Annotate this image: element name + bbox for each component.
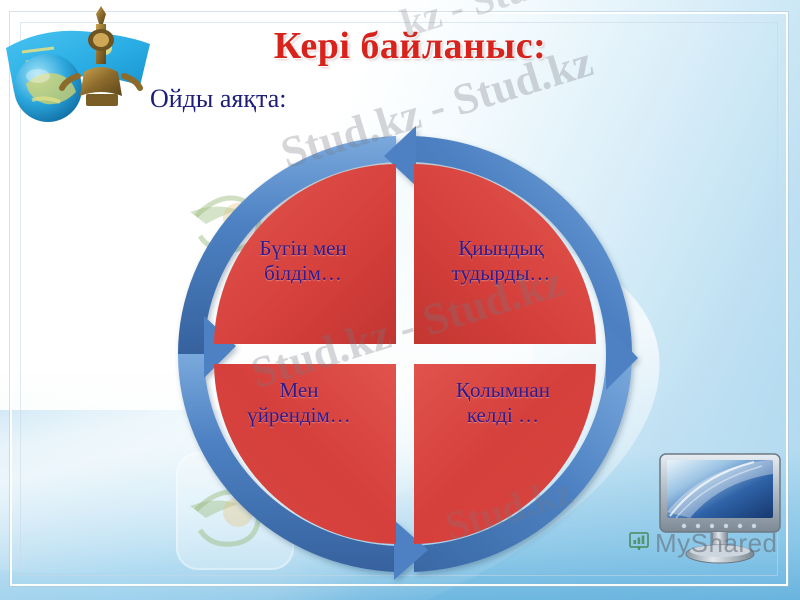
page-title: Кері байланыс: [180,24,640,68]
quadrant-bottom-left-shape [214,364,396,544]
cycle-diagram-svg [170,128,640,580]
cycle-quadrants [214,164,596,544]
cycle-arrow-ring [178,126,638,580]
quadrant-top-right-shape [414,164,596,344]
quadrant-top-left-shape [214,164,396,344]
quadrant-bottom-right-shape [414,364,596,544]
computer-monitor-image [650,450,786,568]
slide-canvas: Кері байланыс: Ойды аяқта: [0,0,800,600]
page-subtitle: Ойды аяқта: [150,84,286,114]
cycle-diagram: Бүгін мен білдім… Қиындық тудырды… Мен ү… [170,128,640,580]
kazakhstan-globe-flag-monument-emblem [0,0,170,130]
